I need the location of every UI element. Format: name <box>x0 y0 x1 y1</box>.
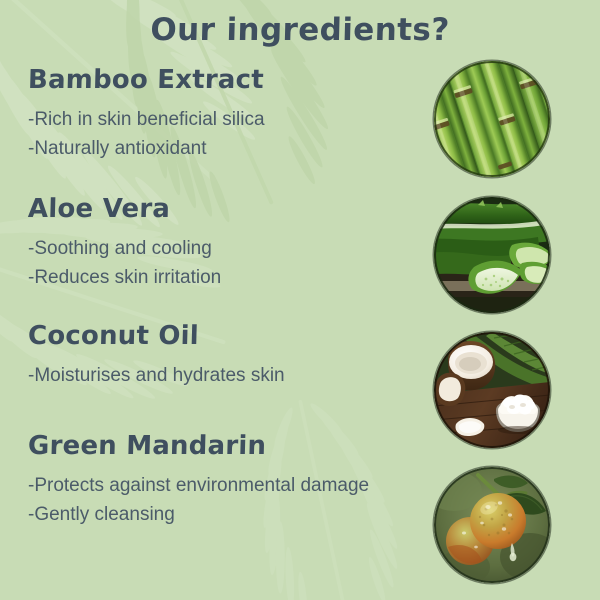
benefit-item: -Moisturises and hydrates skin <box>28 363 391 389</box>
ingredient-block-coconut-oil: Coconut Oil -Moisturises and hydrates sk… <box>28 322 408 392</box>
benefit-item: -Naturally antioxidant <box>28 136 391 162</box>
benefit-item: -Reduces skin irritation <box>28 265 391 291</box>
page-title: Our ingredients? <box>0 12 600 48</box>
ingredient-block-bamboo-extract: Bamboo Extract -Rich in skin beneficial … <box>28 66 408 166</box>
ingredient-name: Aloe Vera <box>28 195 409 224</box>
ingredient-block-aloe-vera: Aloe Vera -Soothing and cooling -Reduces… <box>28 195 408 295</box>
benefit-item: -Soothing and cooling <box>28 236 391 262</box>
ingredient-name: Bamboo Extract <box>28 66 409 95</box>
green-mandarin-fruit-photo <box>434 467 550 583</box>
ingredient-block-green-mandarin: Green Mandarin -Protects against environ… <box>28 432 408 532</box>
benefit-list: -Soothing and cooling -Reduces skin irri… <box>28 236 408 291</box>
benefit-list: -Moisturises and hydrates skin <box>28 363 408 389</box>
benefit-list: -Rich in skin beneficial silica -Natural… <box>28 107 408 162</box>
benefit-list: -Protects against environmental damage -… <box>28 473 408 528</box>
coconut-oil-photo <box>434 332 550 448</box>
ingredient-name: Green Mandarin <box>28 432 409 461</box>
aloe-vera-leaves-photo <box>434 197 550 313</box>
benefit-item: -Protects against environmental damage <box>28 473 391 499</box>
benefit-item: -Gently cleansing <box>28 502 391 528</box>
benefit-item: -Rich in skin beneficial silica <box>28 107 391 133</box>
bamboo-stalks-photo <box>434 61 550 177</box>
ingredients-poster: Our ingredients? Bamboo Extract -Rich in… <box>0 0 600 600</box>
ingredient-name: Coconut Oil <box>28 322 409 351</box>
